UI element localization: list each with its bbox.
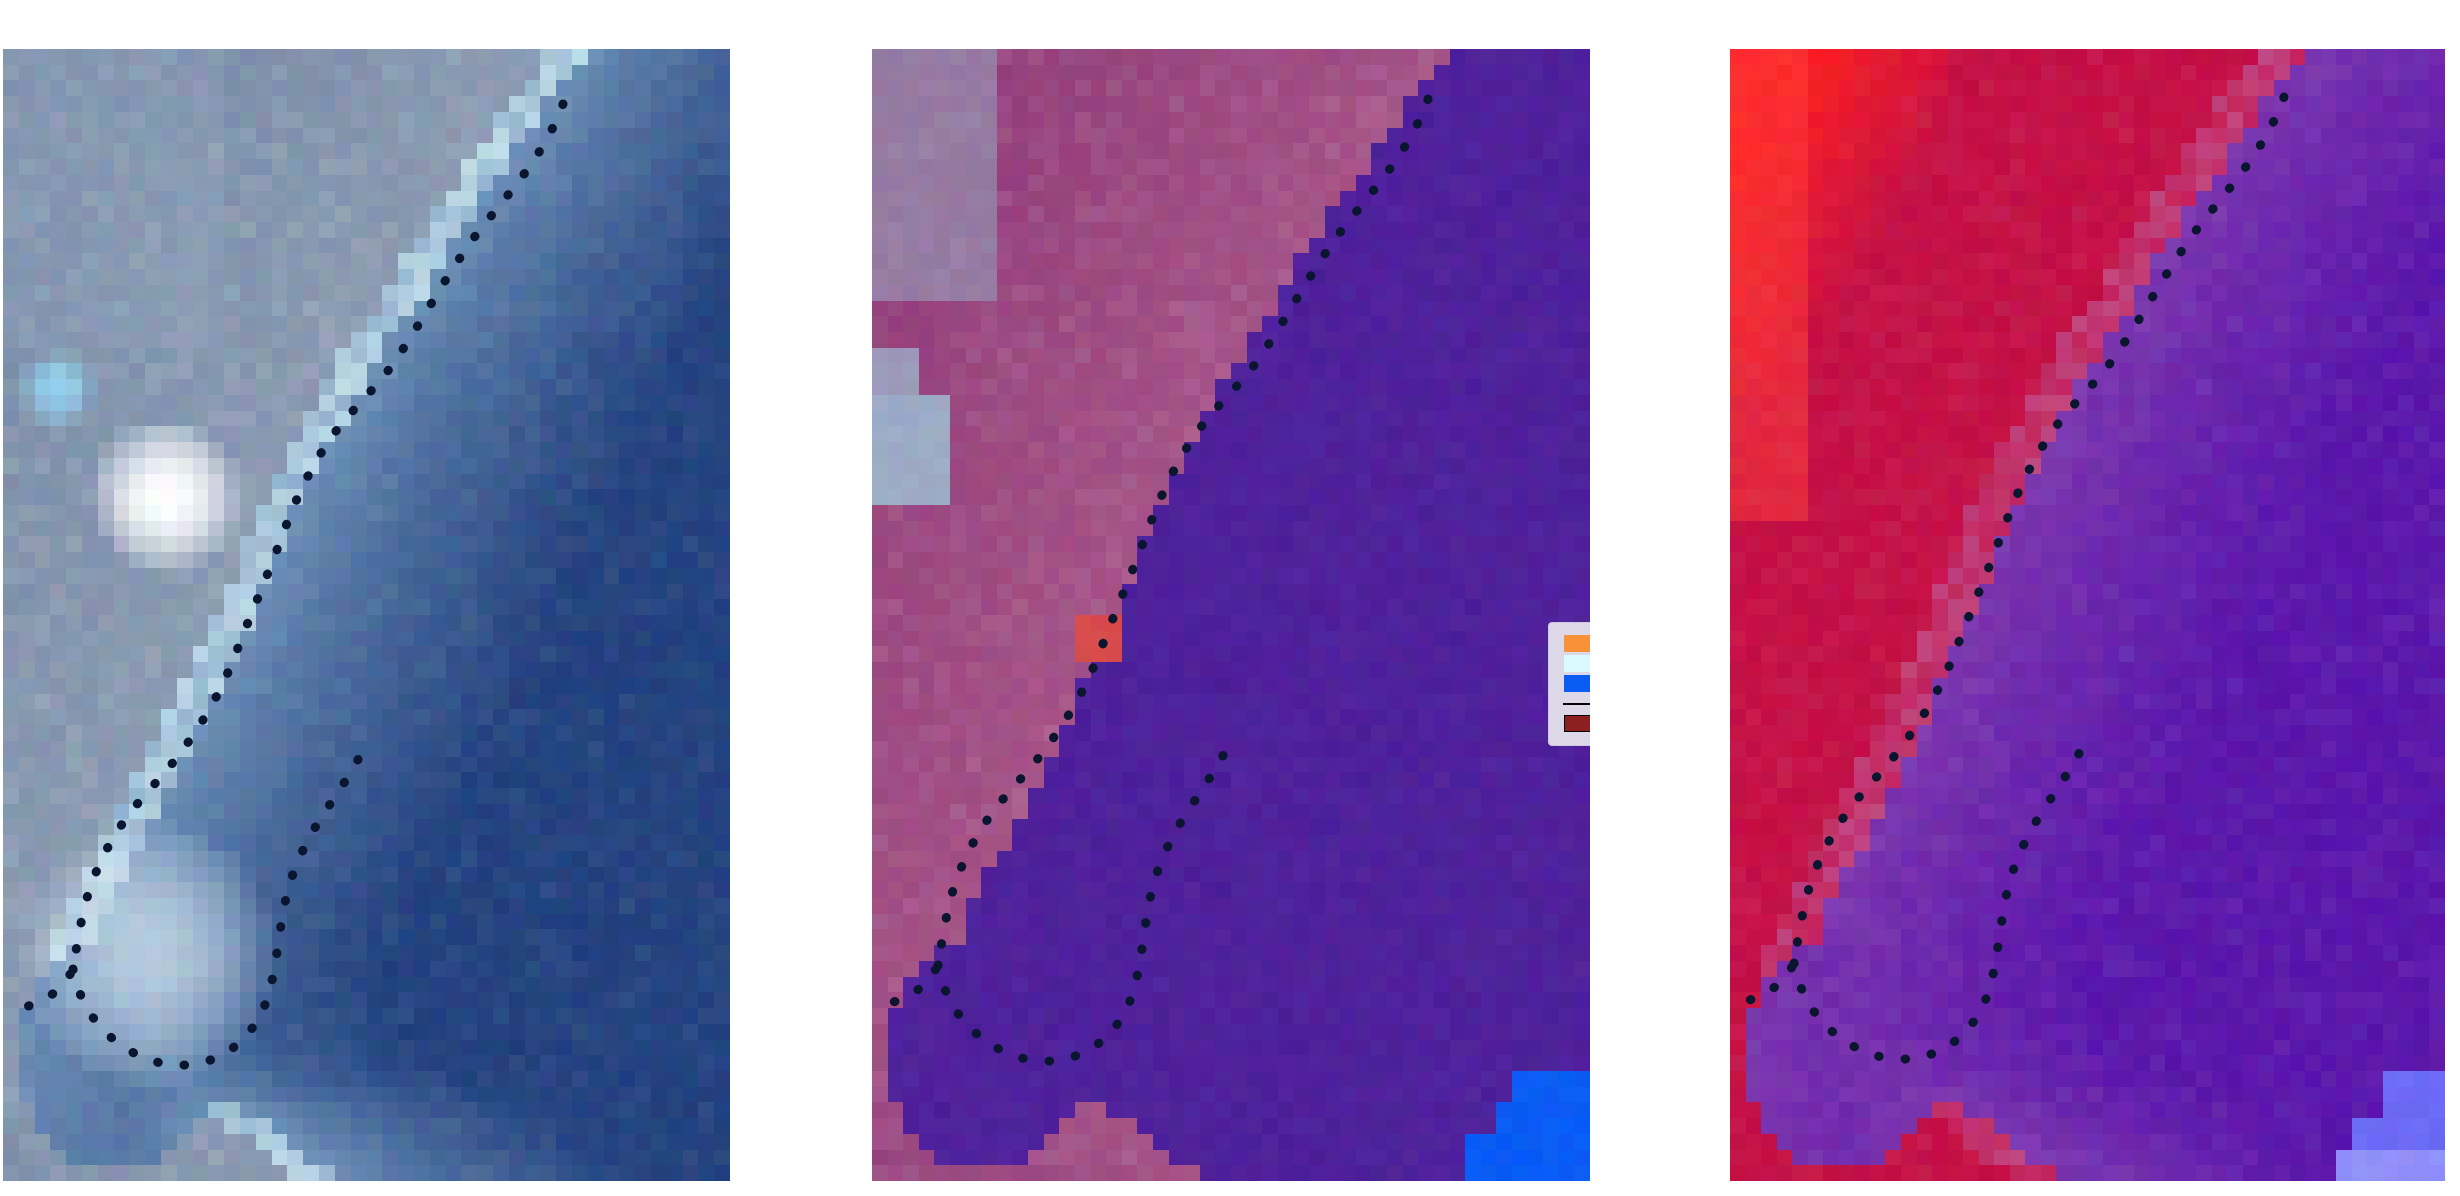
- legend-swatch-reference-buffer: [1562, 714, 1590, 733]
- legend-swatch-sand: [1562, 634, 1590, 653]
- legend-swatch-water: [1562, 674, 1590, 693]
- legend-item-reference-buffer: reference shoreline buffer: [1562, 714, 1590, 734]
- panel-l5: L5: [1730, 49, 2445, 1181]
- raster-sar: [3, 49, 730, 1181]
- legend-swatch-shoreline: [1562, 694, 1590, 713]
- legend-item-sand: sand: [1562, 634, 1590, 654]
- legend-item-water: water: [1562, 674, 1590, 694]
- legend-swatch-whitewater: [1562, 654, 1590, 673]
- legend-item-shoreline: shoreline: [1562, 694, 1590, 714]
- panel-sar1167: sar1167: [3, 49, 730, 1181]
- legend-item-whitewater: whitewater: [1562, 654, 1590, 674]
- legend-box: sand whitewater water shoreline: [1548, 622, 1590, 746]
- raster-l5: [1730, 49, 2445, 1181]
- panel-classified: 2002-05-17-09-36-49 sand whitewater: [872, 49, 1590, 1181]
- figure-canvas: sar1167 2002-05-17-09-36-49 sand: [0, 0, 2460, 1196]
- raster-classified: [872, 49, 1590, 1181]
